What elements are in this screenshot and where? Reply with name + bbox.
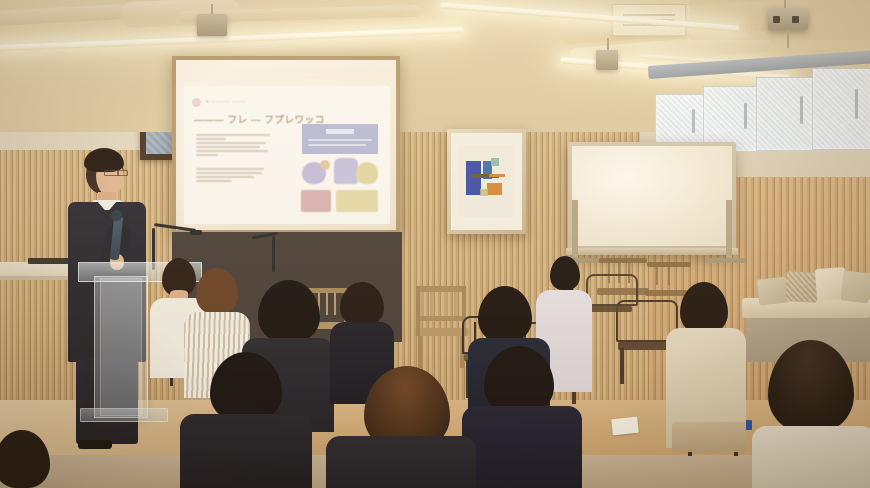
attendee-2-hair (196, 268, 238, 314)
attendee-4-hair (340, 282, 384, 326)
projector-drop-rod (787, 30, 789, 48)
attendee-8-top (180, 414, 312, 488)
slide-box-row-1 (308, 139, 372, 141)
attendee-10-top (462, 406, 582, 488)
framed-artwork (447, 129, 526, 234)
podium-front-panel (100, 278, 142, 416)
window-handle-3[interactable] (800, 96, 803, 124)
presenter-hair (84, 148, 124, 172)
attendee-edge-hair (0, 430, 50, 488)
artwork-shape-teal (491, 158, 499, 166)
attendee-7 (666, 282, 746, 448)
artwork-shape-olive (480, 189, 488, 196)
window-handle-1[interactable] (692, 109, 695, 133)
whiteboard-foot-right (706, 258, 746, 263)
attendee-7-hair (680, 282, 728, 334)
projector-lens-right (792, 16, 799, 23)
slide-box-row-2 (308, 144, 366, 146)
attendee-11 (756, 340, 870, 488)
attendee-9 (336, 366, 466, 488)
frosted-window-3 (756, 77, 814, 151)
ceiling-speaker-1 (197, 14, 227, 36)
slide-icon-2 (320, 160, 330, 170)
podium-microphone-capsule (190, 230, 202, 235)
attendee-foreground-left-edge (0, 430, 54, 488)
slide-bullet-dot (192, 98, 201, 107)
whiteboard-leg-left (572, 200, 578, 262)
attendee-8-hair (210, 352, 282, 422)
sofa-cushion-4 (841, 271, 870, 304)
attendee-5-hair (478, 286, 532, 342)
sofa-cushion-1 (757, 277, 790, 306)
attendee-3-hair (258, 280, 320, 342)
attendee-11-hair (768, 340, 854, 432)
seminar-room-screenshot: ● ———— ——— ——— フレ — フプレワッコ (0, 0, 870, 488)
artwork-shape-orange-block (487, 183, 502, 195)
blue-object-on-chair[interactable] (745, 420, 752, 430)
presenter-shoe (78, 440, 112, 449)
projector-lens-left (773, 16, 780, 23)
attendee-10-hair (484, 346, 554, 414)
attendee-9-top (326, 436, 476, 488)
window-handle-4[interactable] (855, 89, 858, 119)
sofa-cushion-2 (785, 271, 819, 303)
artwork-shape-blue-large (466, 161, 481, 195)
slide-box-title (326, 129, 354, 134)
frosted-window-4 (812, 68, 870, 150)
artwork-shape-orange-bar (489, 174, 505, 177)
podium-base (80, 408, 168, 422)
projected-slide: ● ———— ——— ——— フレ — フプレワッコ (184, 86, 390, 224)
attendee-10 (466, 346, 576, 488)
whiteboard-surface[interactable] (572, 146, 732, 246)
slide-icon-5 (301, 190, 331, 212)
attendee-8 (186, 352, 306, 488)
attendee-11-top (752, 426, 870, 488)
microphone-head (111, 210, 122, 221)
slide-icon-4 (356, 162, 378, 184)
paper-note-on-lap[interactable] (611, 417, 639, 436)
empty-dark-chair-3[interactable] (586, 274, 636, 334)
whiteboard-pen-tray (566, 248, 738, 255)
attendee-7-trousers (672, 422, 746, 452)
projector-mount (768, 8, 808, 30)
slide-header-box (302, 124, 378, 154)
slide-body-text (196, 134, 274, 184)
whiteboard-leg-right (726, 200, 732, 262)
slide-icon-6 (336, 190, 378, 212)
slide-kicker-text: ● ———— ——— (206, 99, 247, 104)
slide-icon-3 (334, 158, 358, 184)
presenter-glasses-right (117, 170, 128, 176)
window-handle-2[interactable] (744, 103, 747, 129)
ceiling-speaker-2 (596, 50, 618, 70)
podium-microphone-stand-2[interactable] (272, 236, 275, 272)
